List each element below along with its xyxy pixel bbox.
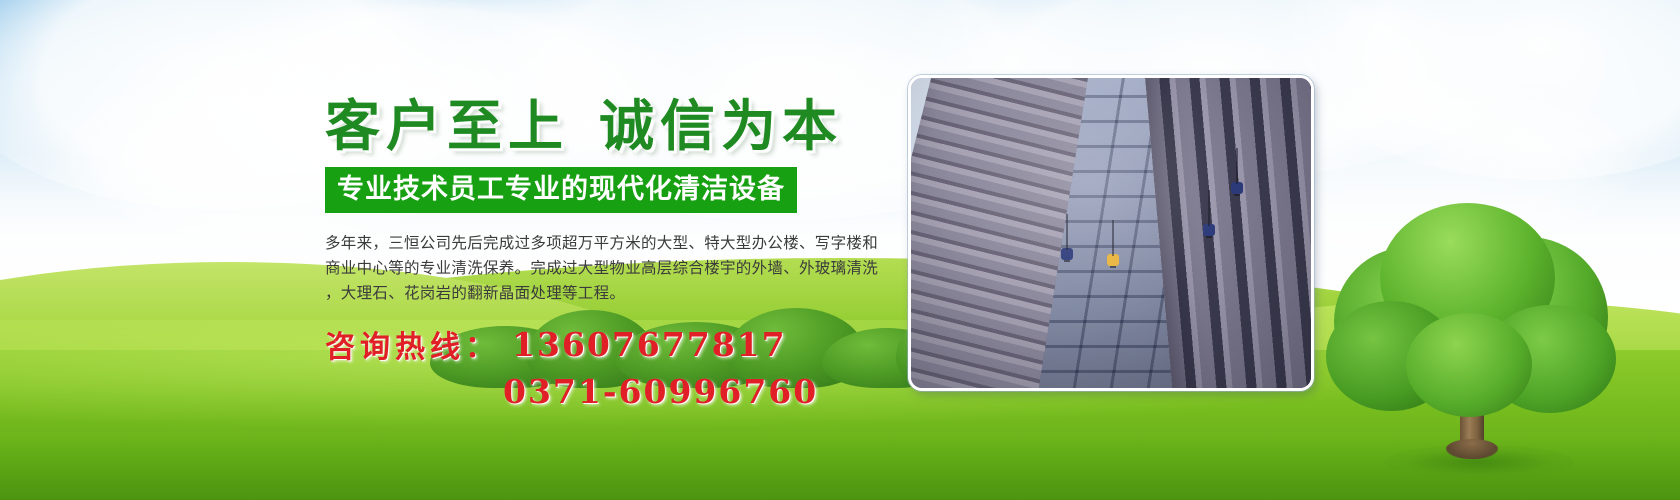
headline-part-1: 客户至上: [325, 93, 569, 158]
photo-image: [911, 78, 1311, 388]
description-line: 多年来，三恒公司先后完成过多项超万平方米的大型、特大型办公楼、写字楼和: [325, 231, 885, 256]
headline-part-2: 诚信为本: [599, 93, 843, 158]
description-line: 商业中心等的专业清洗保养。完成过大型物业高层综合楼宇的外墙、外玻璃清洗: [325, 256, 885, 281]
page-title: 客户至上诚信为本: [325, 96, 905, 155]
hotline-phone-primary[interactable]: 13607677817: [512, 325, 787, 364]
building-right-wing: [1143, 78, 1311, 388]
promo-banner: 客户至上诚信为本 专业技术员工专业的现代化清洁设备 多年来，三恒公司先后完成过多…: [0, 0, 1680, 500]
cloud-icon: [1280, 0, 1680, 180]
rope-access-worker-icon: [1203, 224, 1215, 236]
rope-access-worker-icon: [1107, 254, 1119, 266]
banner-copy: 客户至上诚信为本 专业技术员工专业的现代化清洁设备 多年来，三恒公司先后完成过多…: [325, 96, 905, 411]
description-text: 多年来，三恒公司先后完成过多项超万平方米的大型、特大型办公楼、写字楼和 商业中心…: [325, 231, 885, 306]
description-line: ，大理石、花岗岩的翻新晶面处理等工程。: [325, 281, 885, 306]
hotline-phone-secondary[interactable]: 0371-60996760: [503, 372, 905, 411]
hotline-block: 咨询热线：13607677817 0371-60996760: [325, 322, 905, 411]
high-rise-window-cleaning-photo: [908, 75, 1314, 391]
rope-access-worker-icon: [1061, 248, 1073, 260]
subtitle-bar: 专业技术员工专业的现代化清洁设备: [325, 167, 797, 213]
hotline-label: 咨询热线：: [325, 322, 500, 366]
rope-access-worker-icon: [1231, 182, 1243, 194]
